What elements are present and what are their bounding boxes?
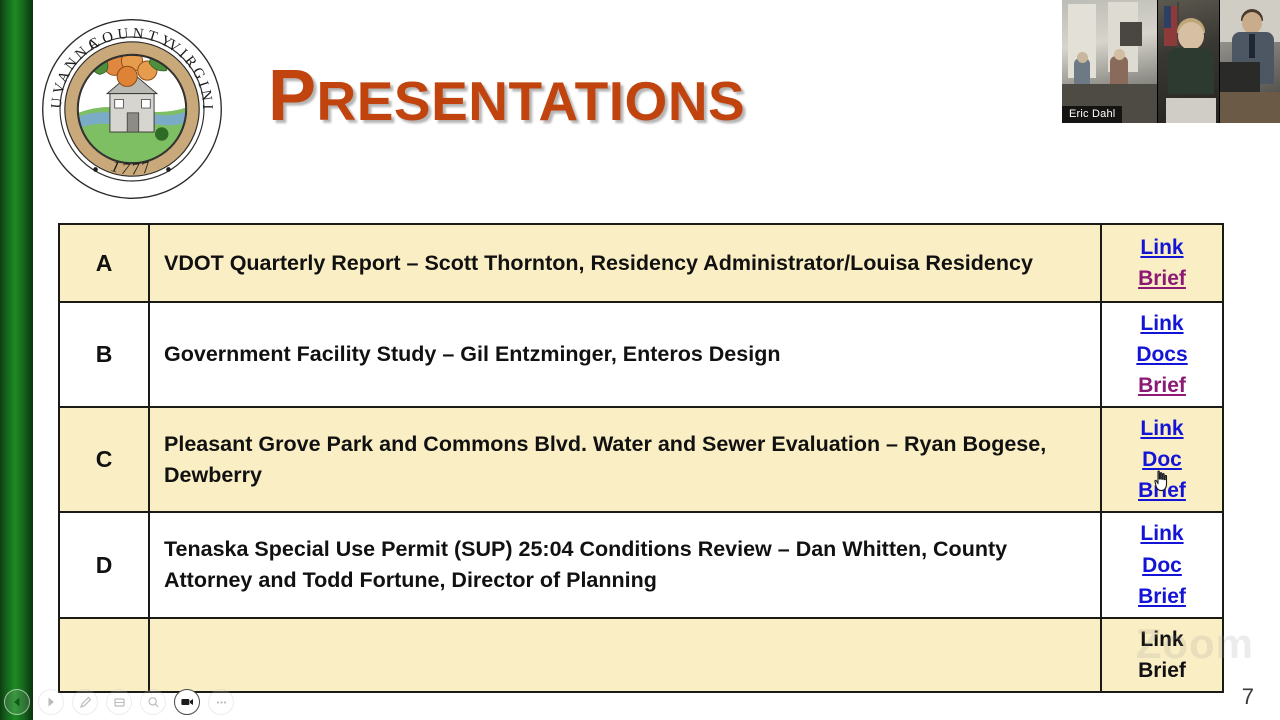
ellipsis-icon [214, 695, 229, 710]
slide-title-rest: RESENTATIONS [317, 70, 746, 132]
erase-button[interactable] [106, 689, 132, 715]
table-row: B Government Facility Study – Gil Entzmi… [59, 302, 1223, 407]
link-a-link[interactable]: Link [1106, 232, 1218, 263]
video-decor [1178, 22, 1204, 50]
video-decor [1168, 48, 1214, 94]
table-row: D Tenaska Special Use Permit (SUP) 25:04… [59, 512, 1223, 617]
video-tile-2[interactable] [1158, 0, 1220, 123]
video-camera-icon [179, 694, 195, 710]
link-e-link: Link [1106, 624, 1218, 655]
link-d-brief[interactable]: Brief [1106, 581, 1218, 612]
link-b-link[interactable]: Link [1106, 308, 1218, 339]
row-letter [59, 618, 149, 692]
fluvanna-county-seal: COUNTY FLUVANNA VIRGINIA 1777 [36, 13, 228, 205]
row-links: Link Doc Brief [1101, 512, 1223, 617]
table-row: Link Brief [59, 618, 1223, 692]
left-green-accent-bar [0, 0, 33, 720]
row-letter: D [59, 512, 149, 617]
link-e-brief: Brief [1106, 655, 1218, 686]
link-c-brief[interactable]: Brief [1106, 475, 1218, 506]
row-description: Government Facility Study – Gil Entzming… [149, 302, 1101, 407]
table-row: A VDOT Quarterly Report – Scott Thornton… [59, 224, 1223, 302]
video-decor [1164, 6, 1171, 28]
link-a-brief[interactable]: Brief [1106, 263, 1218, 294]
previous-slide-button[interactable] [4, 689, 30, 715]
video-participant-name: Eric Dahl [1062, 106, 1122, 123]
video-decor [1077, 52, 1088, 63]
row-description: VDOT Quarterly Report – Scott Thornton, … [149, 224, 1101, 302]
presentations-agenda-table: A VDOT Quarterly Report – Scott Thornton… [58, 223, 1224, 693]
link-d-doc[interactable]: Doc [1106, 550, 1218, 581]
more-options-button[interactable] [208, 689, 234, 715]
row-letter: A [59, 224, 149, 302]
table-row: C Pleasant Grove Park and Commons Blvd. … [59, 407, 1223, 512]
presentation-toolbar [0, 684, 1280, 720]
video-decor [1220, 62, 1260, 92]
slide-title-initial: P [268, 56, 317, 136]
link-c-link[interactable]: Link [1106, 413, 1218, 444]
row-description: Tenaska Special Use Permit (SUP) 25:04 C… [149, 512, 1101, 617]
eraser-icon [112, 695, 127, 710]
video-decor [1249, 34, 1255, 58]
row-letter: B [59, 302, 149, 407]
pen-icon [78, 695, 93, 710]
row-description [149, 618, 1101, 692]
link-d-link[interactable]: Link [1106, 518, 1218, 549]
video-decor [1110, 56, 1128, 86]
video-decor [1166, 98, 1216, 123]
video-tile-3[interactable] [1220, 0, 1280, 123]
video-decor [1242, 12, 1262, 34]
row-links: Link Brief [1101, 618, 1223, 692]
row-letter: C [59, 407, 149, 512]
annotate-button[interactable] [72, 689, 98, 715]
video-decor [1114, 49, 1125, 60]
left-arrow-icon [10, 695, 24, 709]
video-decor [1120, 22, 1142, 46]
link-b-brief[interactable]: Brief [1106, 370, 1218, 401]
svg-text:1777: 1777 [109, 156, 154, 178]
row-links: Link Brief [1101, 224, 1223, 302]
row-description: Pleasant Grove Park and Commons Blvd. Wa… [149, 407, 1101, 512]
right-arrow-icon [44, 695, 58, 709]
video-button[interactable] [174, 689, 200, 715]
video-participant-strip[interactable]: Eric Dahl [1062, 0, 1280, 123]
spotlight-button[interactable] [140, 689, 166, 715]
link-c-doc[interactable]: Doc [1106, 444, 1218, 475]
slide-stage: COUNTY FLUVANNA VIRGINIA 1777 PRESENTATI… [0, 0, 1280, 720]
slide-title: PRESENTATIONS [268, 60, 745, 132]
row-links: Link Docs Brief [1101, 302, 1223, 407]
row-links: Link Doc Brief [1101, 407, 1223, 512]
magnifier-icon [146, 695, 161, 710]
link-b-docs[interactable]: Docs [1106, 339, 1218, 370]
video-tile-eric-dahl[interactable]: Eric Dahl [1062, 0, 1158, 123]
video-decor [1220, 92, 1280, 123]
next-slide-button[interactable] [38, 689, 64, 715]
